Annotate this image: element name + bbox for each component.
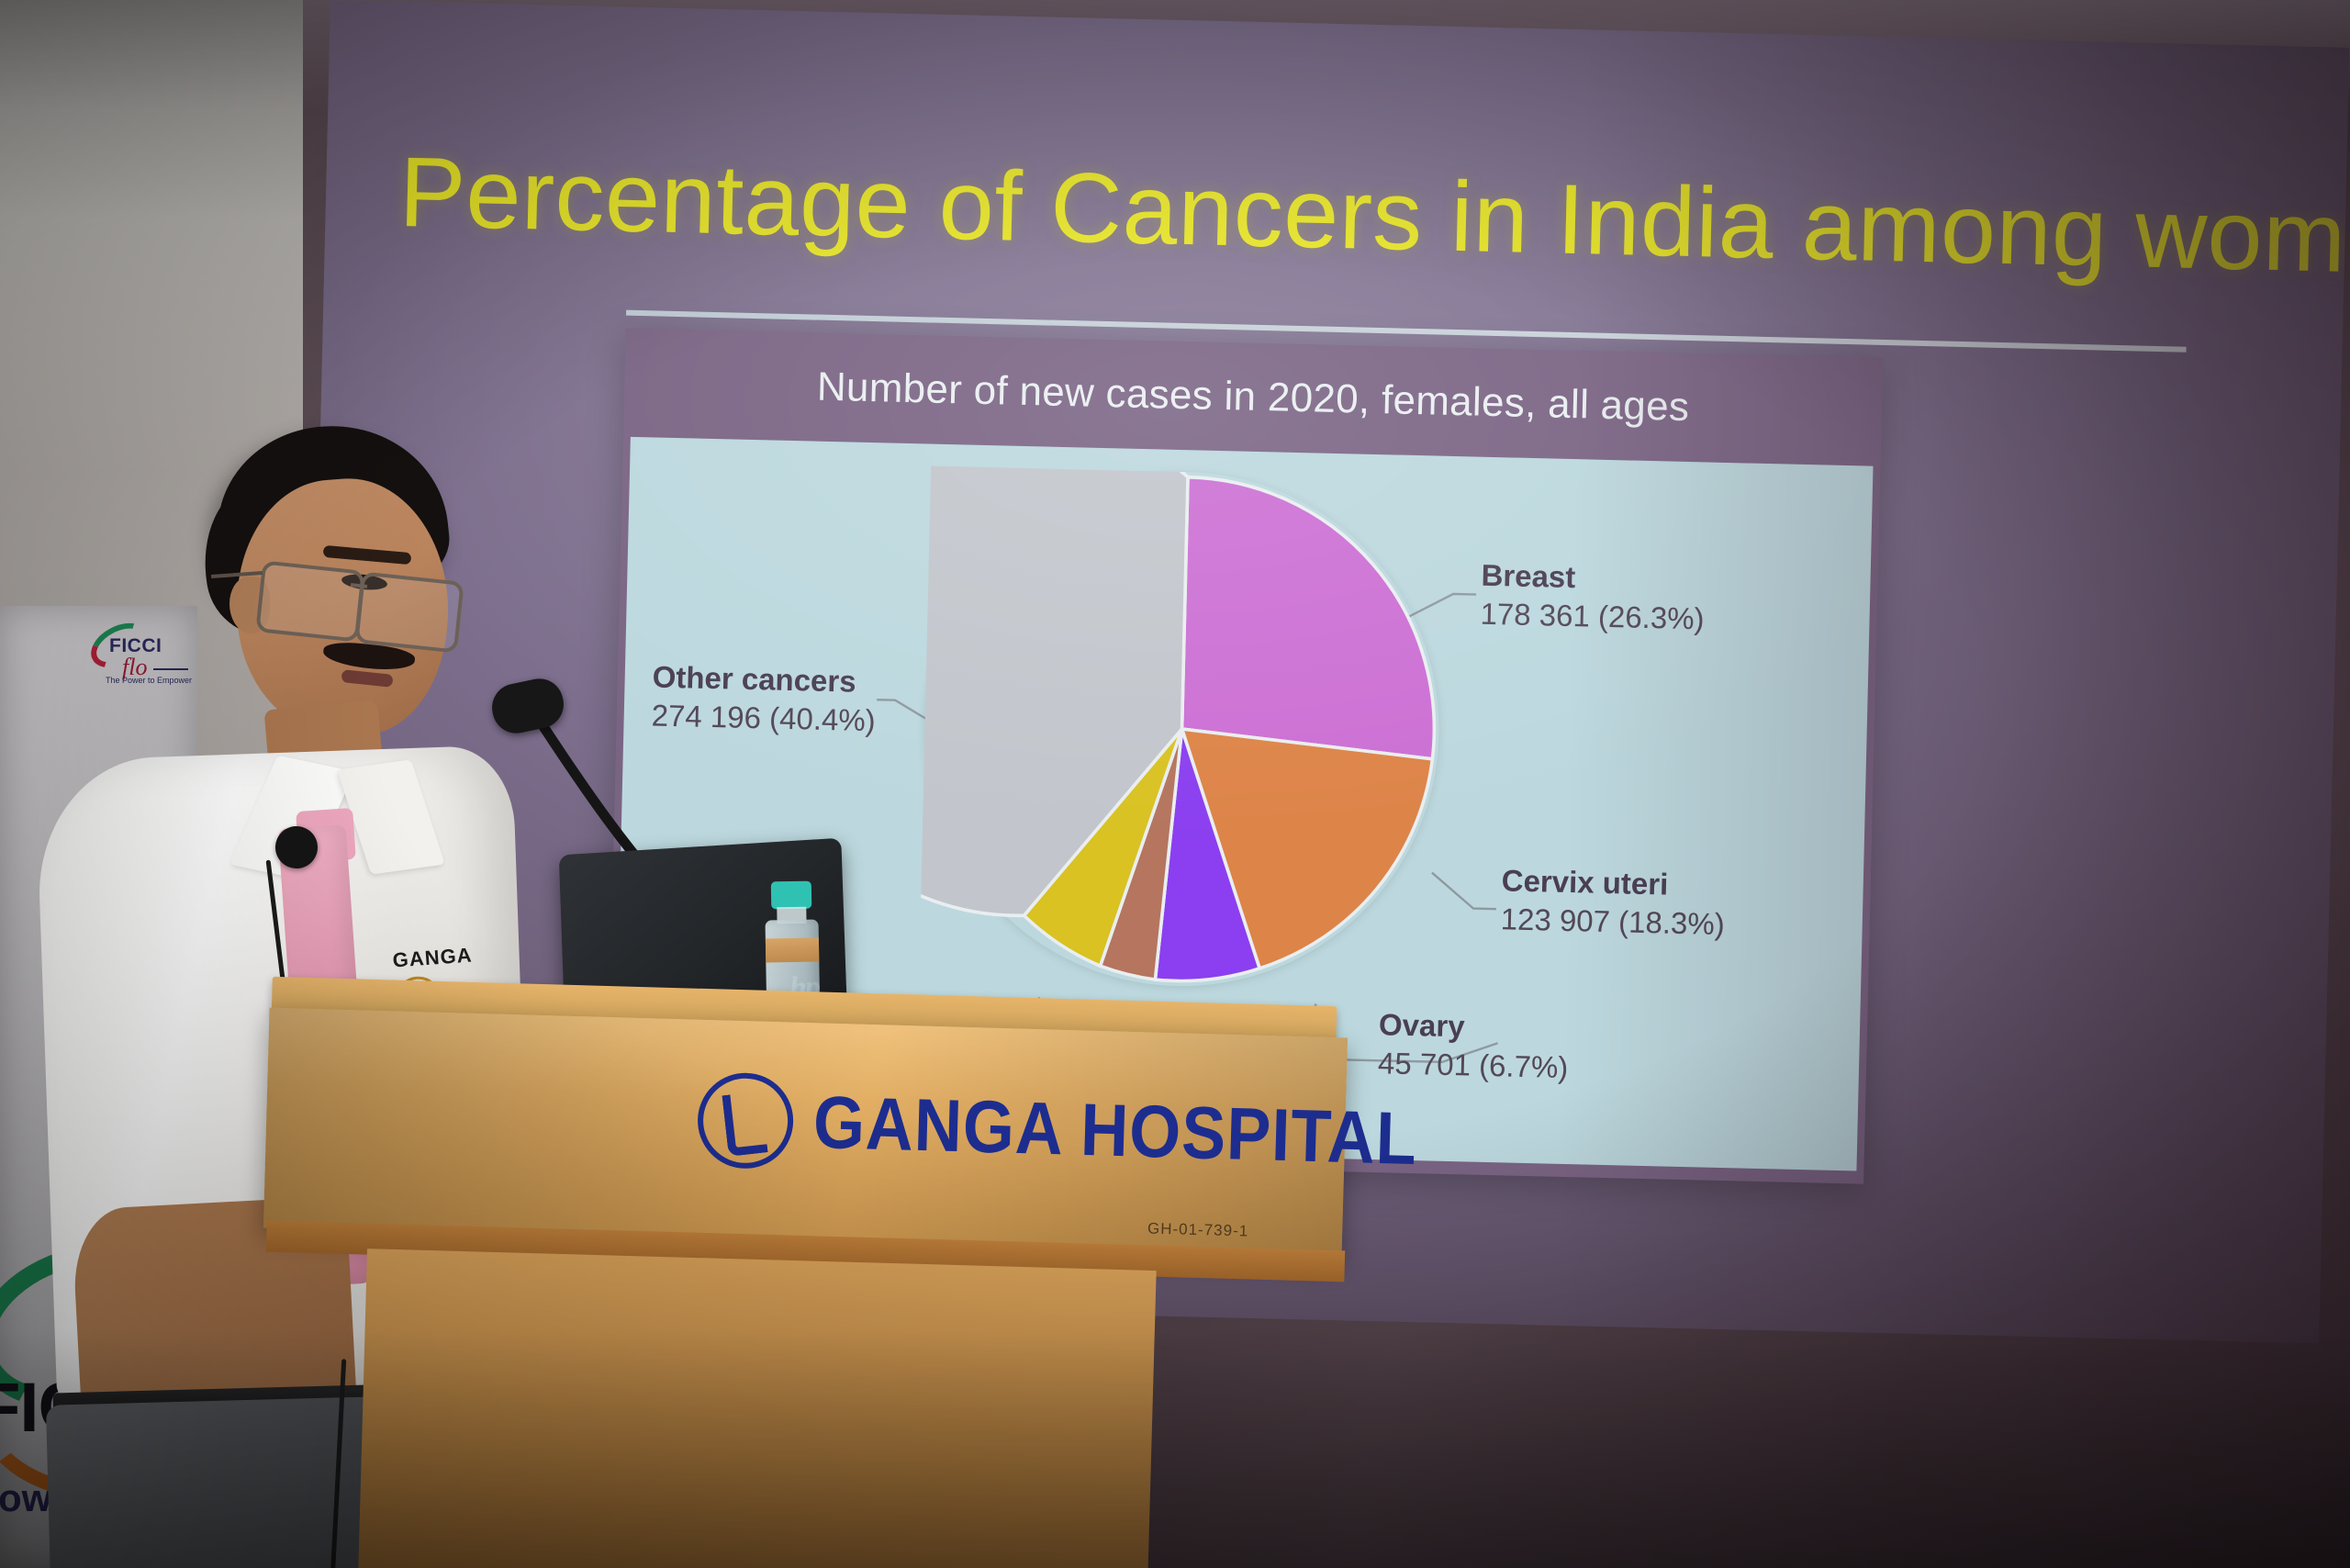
glasses-lens-right (354, 571, 464, 653)
bottle-cap (771, 881, 812, 910)
floor-shadow (0, 1329, 2350, 1568)
pie-chart (919, 466, 1445, 992)
callout-ovary: Ovary 45 701 (6.7%) (1378, 1005, 1570, 1087)
callout-cervix-uteri: Cervix uteri 123 907 (18.3%) (1500, 861, 1726, 944)
callout-breast-value: 178 361 (26.3%) (1480, 595, 1705, 639)
eyeglasses-icon (246, 553, 457, 641)
podium-signage: GANGA HOSPITAL (696, 1055, 1269, 1199)
pie-slice-breast (1181, 477, 1440, 759)
pie-svg (919, 466, 1445, 992)
pie-slices (919, 466, 1445, 992)
callout-ovary-name: Ovary (1379, 1005, 1570, 1048)
callout-cervix-uteri-name: Cervix uteri (1501, 861, 1726, 905)
callout-breast: Breast 178 361 (26.3%) (1480, 556, 1706, 639)
badge-organization-text: GANGA (392, 943, 486, 973)
podium-organization-name: GANGA HOSPITAL (812, 1081, 1418, 1182)
callout-ovary-value: 45 701 (6.7%) (1378, 1044, 1569, 1087)
chart-subtitle: Number of new cases in 2020, females, al… (816, 364, 1689, 431)
callout-breast-name: Breast (1481, 556, 1706, 600)
bottle-label (766, 937, 819, 962)
glasses-lens-left (255, 560, 365, 642)
slide-title: Percentage of Cancers in India among wom… (398, 140, 2273, 287)
callout-cervix-uteri-value: 123 907 (18.3%) (1500, 901, 1725, 945)
screenshot-root: FICCI flo The Power to Empower FICCI flo… (0, 0, 2350, 1568)
podium-asset-code: GH-01-739-1 (1147, 1219, 1249, 1240)
ganga-hospital-logo-icon (697, 1071, 795, 1170)
